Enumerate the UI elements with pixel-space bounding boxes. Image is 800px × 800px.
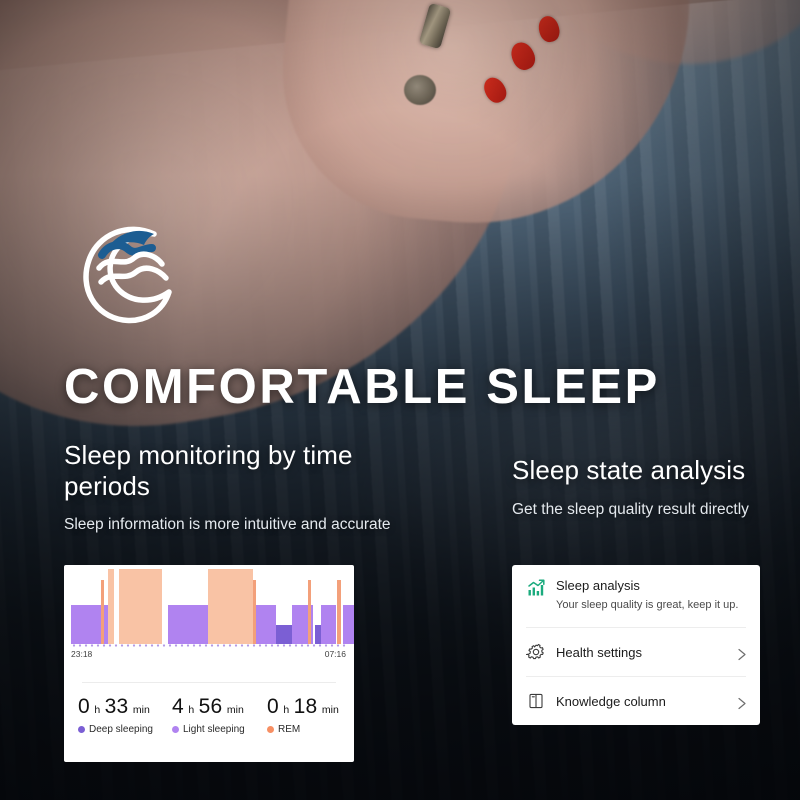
sleep-stats-row: 0 h 33 min Deep sleeping 4 h 56	[64, 696, 354, 752]
stat-hour-unit: h	[94, 704, 100, 716]
left-heading: Sleep monitoring by time periods	[64, 440, 394, 501]
stat-value: 0 h 33 min	[78, 696, 153, 717]
left-subtext: Sleep information is more intuitive and …	[64, 515, 394, 536]
stat-hours: 0	[78, 695, 90, 718]
legend-dot-light	[172, 726, 179, 733]
right-subtext: Get the sleep quality result directly	[512, 500, 782, 521]
sleep-analysis-card: Sleep analysis Your sleep quality is gre…	[512, 565, 760, 725]
stat-minutes: 33	[105, 695, 129, 718]
right-feature-column: Sleep state analysis Get the sleep quali…	[512, 455, 782, 521]
stat-hour-unit: h	[188, 704, 194, 716]
stat-light-sleeping: 4 h 56 min Light sleeping	[172, 696, 245, 735]
right-heading: Sleep state analysis	[512, 455, 782, 486]
legend-label-rem: REM	[278, 724, 300, 735]
legend-dot-rem	[267, 726, 274, 733]
sleep-bar-light	[343, 605, 354, 644]
stat-legend: REM	[267, 724, 339, 735]
legend-label-deep: Deep sleeping	[89, 724, 153, 735]
chart-start-time: 23:18	[71, 649, 92, 659]
sleep-bar-deep	[276, 625, 293, 645]
row-sleep-analysis[interactable]: Sleep analysis Your sleep quality is gre…	[512, 565, 760, 627]
sleep-stage-chart: 23:18 07:16	[64, 565, 354, 660]
stat-legend: Deep sleeping	[78, 724, 153, 735]
sleep-bar-rem	[208, 569, 254, 644]
legend-dot-deep	[78, 726, 85, 733]
stat-deep-sleeping: 0 h 33 min Deep sleeping	[78, 696, 153, 735]
bar-chart-trend-icon	[526, 578, 546, 598]
stat-value: 4 h 56 min	[172, 696, 245, 717]
stat-hour-unit: h	[283, 704, 289, 716]
sleep-chart-card: 23:18 07:16 0 h 33 min Deep sleeping	[64, 565, 354, 762]
stat-legend: Light sleeping	[172, 724, 245, 735]
chart-end-time: 07:16	[325, 649, 346, 659]
row-subtitle: Your sleep quality is great, keep it up.	[556, 599, 738, 613]
sleep-bar-rem_spike	[101, 580, 103, 645]
stat-minute-unit: min	[322, 704, 339, 716]
sleep-bar-rem	[108, 569, 114, 644]
sleep-bar-light	[256, 605, 275, 644]
sleep-stage-bars	[71, 569, 347, 644]
sleep-product-page: COMFORTABLE SLEEP Sleep monitoring by ti…	[0, 0, 800, 800]
sleep-bar-rem_spike	[308, 580, 310, 645]
sleep-bar-light	[321, 605, 336, 644]
row-title: Sleep analysis	[556, 578, 738, 593]
page-title: COMFORTABLE SLEEP	[64, 363, 660, 412]
left-feature-column: Sleep monitoring by time periods Sleep i…	[64, 440, 394, 536]
row-title: Health settings	[556, 645, 642, 660]
stat-minute-unit: min	[133, 704, 150, 716]
chevron-right-icon[interactable]	[737, 697, 746, 706]
stat-minute-unit: min	[227, 704, 244, 716]
sleep-bar-light	[168, 605, 208, 644]
row-title: Knowledge column	[556, 694, 666, 709]
crescent-moon-sleep-icon	[66, 212, 188, 324]
row-health-settings[interactable]: Health settings	[512, 628, 760, 676]
stat-hours: 4	[172, 695, 184, 718]
stat-minutes: 56	[199, 695, 223, 718]
sleep-bar-rem	[119, 569, 162, 644]
row-knowledge-column[interactable]: Knowledge column	[512, 677, 760, 725]
card-divider	[82, 682, 336, 683]
stat-hours: 0	[267, 695, 279, 718]
sleep-bar-rem_spike	[337, 580, 341, 645]
stat-value: 0 h 18 min	[267, 696, 339, 717]
chart-time-axis	[71, 644, 347, 647]
chevron-right-icon[interactable]	[737, 648, 746, 657]
stat-minutes: 18	[294, 695, 318, 718]
stat-rem: 0 h 18 min REM	[267, 696, 339, 735]
book-icon	[526, 691, 546, 711]
gear-icon	[526, 642, 546, 662]
legend-label-light: Light sleeping	[183, 724, 245, 735]
